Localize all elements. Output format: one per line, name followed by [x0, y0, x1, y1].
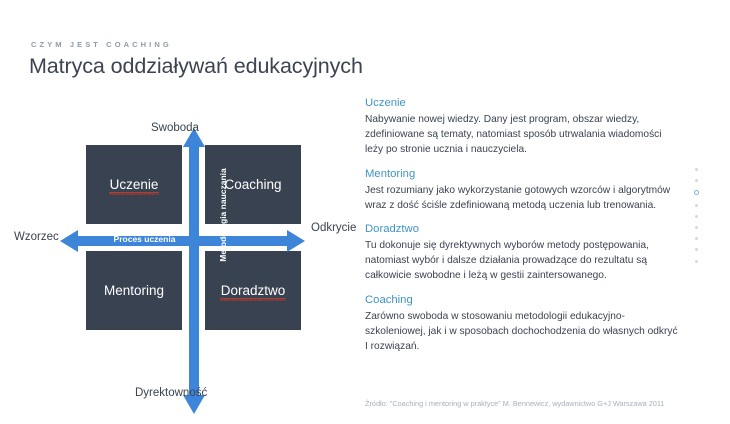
pagination-dot[interactable]: [695, 168, 698, 171]
quadrant-mentoring: Mentoring: [86, 251, 182, 330]
axis-label-bottom: Dyrektowność: [135, 387, 207, 399]
pagination-dot[interactable]: [695, 215, 698, 218]
quadrant-doradztwo: Doradztwo: [205, 251, 301, 330]
entry-body-coaching: Zarówno swoboda w stosowaniu metodologii…: [365, 309, 680, 355]
quadrant-label-doradztwo: Doradztwo: [221, 283, 286, 298]
description-entry: Uczenie Nabywanie nowej wiedzy. Dany jes…: [365, 96, 680, 158]
entry-body-doradztwo: Tu dokonuje się dyrektywnych wyborów met…: [365, 238, 680, 284]
quadrant-label-coaching: Coaching: [224, 177, 281, 192]
description-entry: Coaching Zarówno swoboda w stosowaniu me…: [365, 293, 680, 355]
entry-title-coaching: Coaching: [365, 293, 680, 308]
quadrant-label-uczenie: Uczenie: [110, 177, 159, 192]
quadrant-label-mentoring: Mentoring: [104, 283, 164, 298]
axis-label-right: Odkrycie: [311, 222, 356, 234]
entry-body-uczenie: Nabywanie nowej wiedzy. Dany jest progra…: [365, 112, 680, 158]
entry-title-mentoring: Mentoring: [365, 167, 680, 182]
description-panel: Uczenie Nabywanie nowej wiedzy. Dany jes…: [365, 96, 680, 363]
pagination-dot-active[interactable]: [694, 190, 699, 195]
vertical-axis-arrow-icon: [183, 128, 205, 414]
description-entry: Mentoring Jest rozumiany jako wykorzysta…: [365, 167, 680, 213]
source-citation: Źródło: "Coaching i mentoring w praktyce…: [365, 399, 664, 408]
pagination-dot[interactable]: [695, 237, 698, 240]
slide-eyebrow: CZYM JEST COACHING: [31, 40, 172, 49]
pagination-dot[interactable]: [695, 179, 698, 182]
axis-label-top: Swoboda: [151, 122, 199, 134]
page-title: Matryca oddziaływań edukacyjnych: [29, 54, 363, 79]
quadrant-uczenie: Uczenie: [86, 145, 182, 224]
entry-body-mentoring: Jest rozumiany jako wykorzystanie gotowy…: [365, 183, 680, 213]
entry-title-doradztwo: Doradztwo: [365, 222, 680, 237]
matrix-diagram: Uczenie Coaching Mentoring Doradztwo Pro…: [0, 110, 360, 410]
pagination-dot[interactable]: [695, 226, 698, 229]
axis-label-left: Wzorzec: [14, 231, 59, 243]
pagination-dot[interactable]: [695, 204, 698, 207]
slide: CZYM JEST COACHING Matryca oddziaływań e…: [0, 0, 730, 424]
quadrant-coaching: Coaching: [205, 145, 301, 224]
pagination-dots[interactable]: [694, 168, 699, 263]
pagination-dot[interactable]: [695, 260, 698, 263]
entry-title-uczenie: Uczenie: [365, 96, 680, 111]
pagination-dot[interactable]: [695, 248, 698, 251]
description-entry: Doradztwo Tu dokonuje się dyrektywnych w…: [365, 222, 680, 284]
